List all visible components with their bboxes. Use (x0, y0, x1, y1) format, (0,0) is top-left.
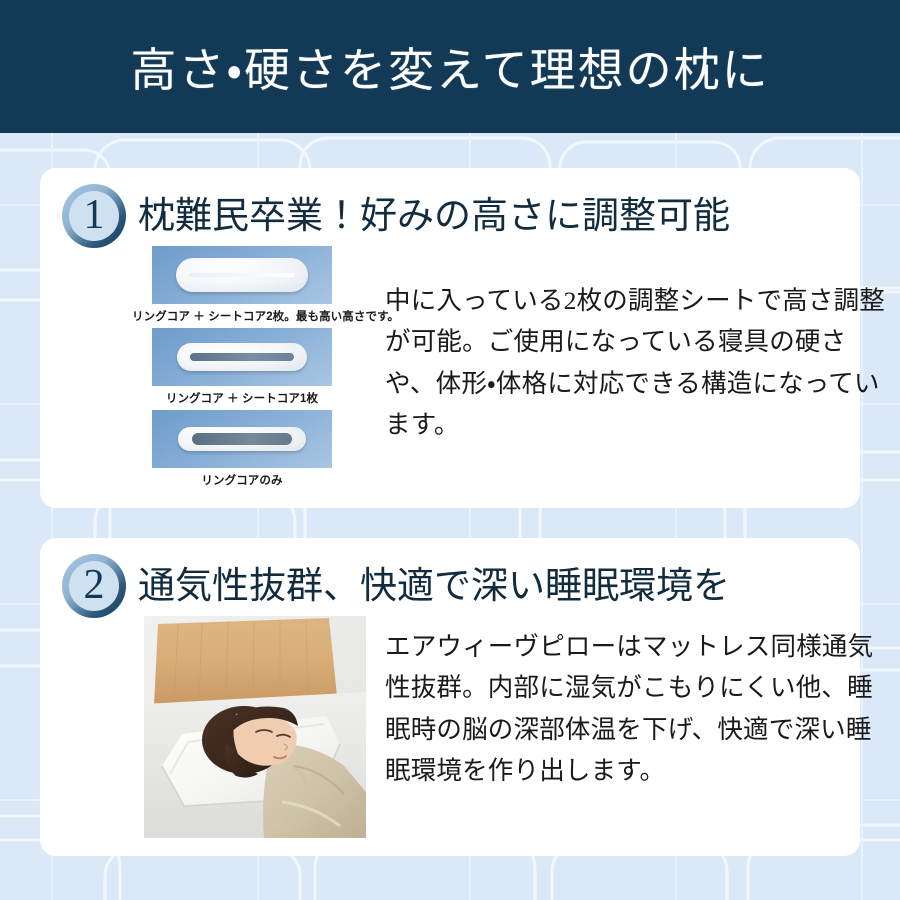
section-2-heading: 2 通気性抜群、快適で深い睡眠環境を (62, 554, 730, 618)
section-number-badge-2: 2 (62, 554, 126, 618)
core-slot (190, 353, 294, 361)
section-title-1: 枕難民卒業！好みの高さに調整可能 (138, 198, 730, 235)
thumbnail-caption-1: リングコア ＋ シートコア2枚。最も高い高さです。 (132, 308, 352, 324)
thumbnail-item: リングコアのみ (132, 410, 352, 488)
pillow-core-photo-2 (152, 328, 332, 386)
pillow-core-thumbnail-stack: リングコア ＋ シートコア2枚。最も高い高さです。 リングコア ＋ シートコア1… (132, 246, 352, 492)
section-title-2: 通気性抜群、快適で深い睡眠環境を (138, 568, 730, 605)
section-number-2: 2 (84, 564, 105, 606)
sleeping-woman-photo (144, 616, 366, 838)
feature-card-2: 2 通気性抜群、快適で深い睡眠環境を (40, 538, 860, 856)
section-body-2: エアウィーヴピローはマットレス同様通気性抜群。内部に湿気がこもりにくい他、睡眠時… (385, 626, 885, 791)
thumbnail-item: リングコア ＋ シートコア1枚 (132, 328, 352, 406)
page-title: 高さ・硬さを変えて理想の枕に (130, 34, 769, 100)
core-slot (192, 433, 292, 445)
feature-card-1: 1 枕難民卒業！好みの高さに調整可能 リングコア ＋ シートコア2枚。最も高い高… (40, 168, 860, 508)
thumbnail-item: リングコア ＋ シートコア2枚。最も高い高さです。 (132, 246, 352, 324)
section-1-heading: 1 枕難民卒業！好みの高さに調整可能 (62, 184, 730, 248)
pillow-core-shape (178, 427, 306, 451)
thumbnail-caption-3: リングコアのみ (132, 472, 352, 488)
header-banner: 高さ・硬さを変えて理想の枕に (0, 0, 900, 133)
pillow-core-photo-3 (152, 410, 332, 468)
core-slot (189, 273, 295, 277)
thumbnail-caption-2: リングコア ＋ シートコア1枚 (132, 390, 352, 406)
section-body-1: 中に入っている2枚の調整シートで高さ調整が可能。ご使用になっている寝具の硬さや、… (385, 280, 885, 445)
pillow-core-shape (177, 343, 307, 371)
pillow-core-shape (176, 258, 308, 292)
section-number-1: 1 (84, 194, 105, 236)
section-number-badge-1: 1 (62, 184, 126, 248)
pillow-core-photo-1 (152, 246, 332, 304)
infographic-page: 高さ・硬さを変えて理想の枕に 1 枕難民卒業！好みの高さに調整可能 リングコア … (0, 0, 900, 900)
